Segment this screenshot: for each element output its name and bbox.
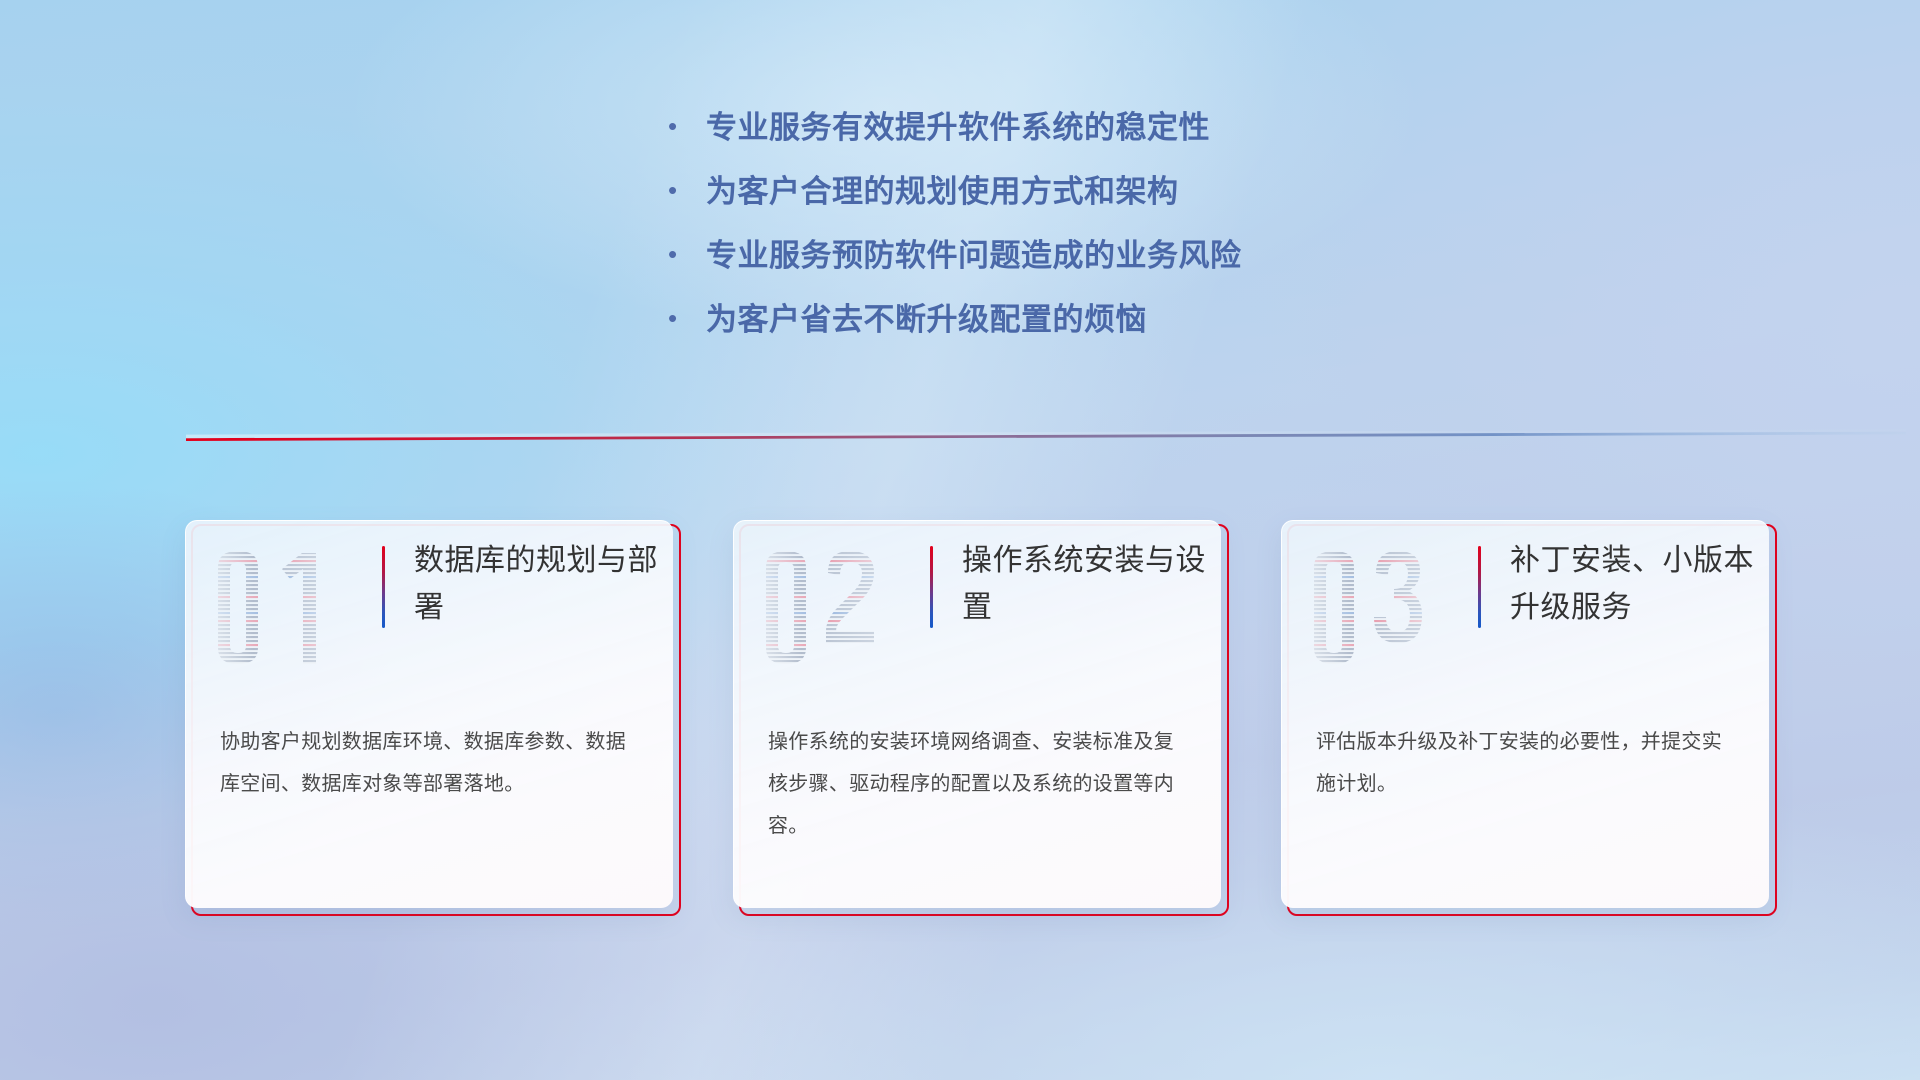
section-divider bbox=[186, 425, 1906, 441]
bullet-dot-icon: • bbox=[668, 305, 706, 331]
service-card-row: 数据库的规划与部署 协助客户规划数据库环境、数据库参数、数据库空间、数据库对象等… bbox=[0, 520, 1920, 940]
benefits-bullet-list: • 专业服务有效提升软件系统的稳定性 • 为客户合理的规划使用方式和架构 • 专… bbox=[668, 112, 1488, 368]
card-header: 操作系统安装与设置 bbox=[734, 521, 1221, 701]
bullet-text: 为客户省去不断升级配置的烦恼 bbox=[706, 304, 1147, 335]
card-description: 协助客户规划数据库环境、数据库参数、数据库空间、数据库对象等部署落地。 bbox=[220, 721, 640, 805]
ghost-number-scanlines bbox=[1300, 545, 1470, 670]
card-ghost-number-03 bbox=[1300, 545, 1470, 670]
bullet-dot-icon: • bbox=[668, 113, 706, 139]
bullet-item: • 专业服务预防软件问题造成的业务风险 bbox=[668, 240, 1488, 304]
service-card[interactable]: 数据库的规划与部署 协助客户规划数据库环境、数据库参数、数据库空间、数据库对象等… bbox=[185, 520, 675, 912]
bullet-item: • 专业服务有效提升软件系统的稳定性 bbox=[668, 112, 1488, 176]
ghost-number-scanlines bbox=[752, 545, 922, 670]
card-panel: 数据库的规划与部署 协助客户规划数据库环境、数据库参数、数据库空间、数据库对象等… bbox=[185, 520, 673, 908]
card-panel: 补丁安装、小版本升级服务 评估版本升级及补丁安装的必要性，并提交实施计划。 bbox=[1281, 520, 1769, 908]
bullet-dot-icon: • bbox=[668, 177, 706, 203]
ghost-number-scanlines bbox=[204, 545, 374, 670]
card-description: 评估版本升级及补丁安装的必要性，并提交实施计划。 bbox=[1316, 721, 1736, 805]
bullet-text: 为客户合理的规划使用方式和架构 bbox=[706, 176, 1179, 207]
card-accent-rule bbox=[382, 546, 385, 628]
card-header: 数据库的规划与部署 bbox=[186, 521, 673, 701]
card-ghost-number-02 bbox=[752, 545, 922, 670]
bullet-item: • 为客户省去不断升级配置的烦恼 bbox=[668, 304, 1488, 368]
card-header: 补丁安装、小版本升级服务 bbox=[1282, 521, 1769, 701]
card-title: 数据库的规划与部署 bbox=[414, 537, 662, 631]
card-ghost-number-01 bbox=[204, 545, 374, 670]
service-card[interactable]: 操作系统安装与设置 操作系统的安装环境网络调查、安装标准及复核步骤、驱动程序的配… bbox=[733, 520, 1223, 912]
card-title: 补丁安装、小版本升级服务 bbox=[1510, 537, 1758, 631]
bullet-text: 专业服务预防软件问题造成的业务风险 bbox=[706, 240, 1242, 271]
card-title: 操作系统安装与设置 bbox=[962, 537, 1210, 631]
service-card[interactable]: 补丁安装、小版本升级服务 评估版本升级及补丁安装的必要性，并提交实施计划。 bbox=[1281, 520, 1771, 912]
card-description: 操作系统的安装环境网络调查、安装标准及复核步骤、驱动程序的配置以及系统的设置等内… bbox=[768, 721, 1188, 847]
card-accent-rule bbox=[930, 546, 933, 628]
card-panel: 操作系统安装与设置 操作系统的安装环境网络调查、安装标准及复核步骤、驱动程序的配… bbox=[733, 520, 1221, 908]
slide-canvas: • 专业服务有效提升软件系统的稳定性 • 为客户合理的规划使用方式和架构 • 专… bbox=[0, 0, 1920, 1080]
divider-shape bbox=[186, 425, 1906, 441]
card-accent-rule bbox=[1478, 546, 1481, 628]
bullet-text: 专业服务有效提升软件系统的稳定性 bbox=[706, 112, 1210, 143]
bullet-dot-icon: • bbox=[668, 241, 706, 267]
bullet-item: • 为客户合理的规划使用方式和架构 bbox=[668, 176, 1488, 240]
